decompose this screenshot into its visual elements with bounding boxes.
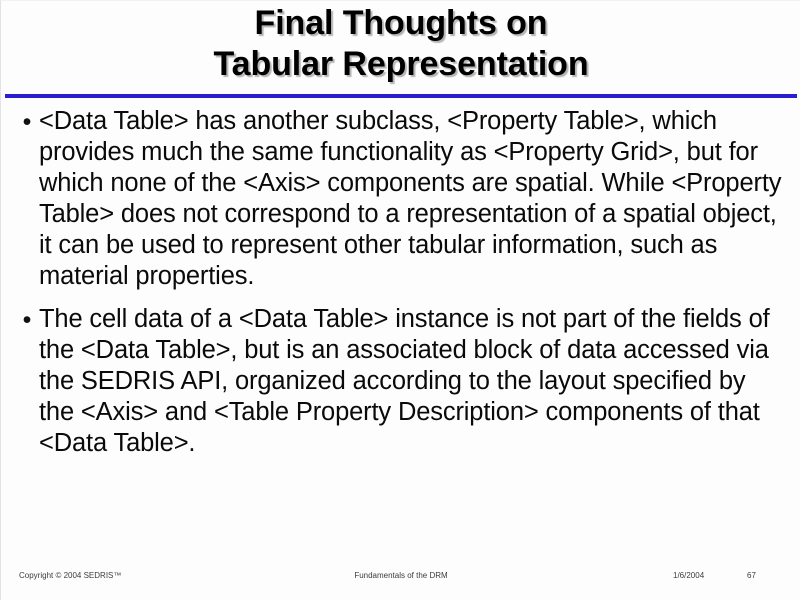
presentation-slide: Final Thoughts on Tabular Representation… (0, 0, 800, 600)
slide-number: 67 (747, 571, 756, 580)
slide-body: • <Data Table> has another subclass, <Pr… (15, 106, 790, 471)
list-item: • <Data Table> has another subclass, <Pr… (15, 106, 790, 292)
title-divider-rule (5, 94, 797, 98)
bullet-dot-icon: • (15, 304, 39, 336)
footer-date: 1/6/2004 (673, 571, 704, 580)
list-item: • The cell data of a <Data Table> instan… (15, 304, 790, 459)
bullet-text: The cell data of a <Data Table> instance… (39, 304, 790, 459)
page-title: Final Thoughts on Tabular Representation (1, 3, 800, 85)
bullet-dot-icon: • (15, 106, 39, 138)
slide-footer: Copyright © 2004 SEDRIS™ Fundamentals of… (1, 571, 800, 587)
bullet-text: <Data Table> has another subclass, <Prop… (39, 106, 790, 292)
